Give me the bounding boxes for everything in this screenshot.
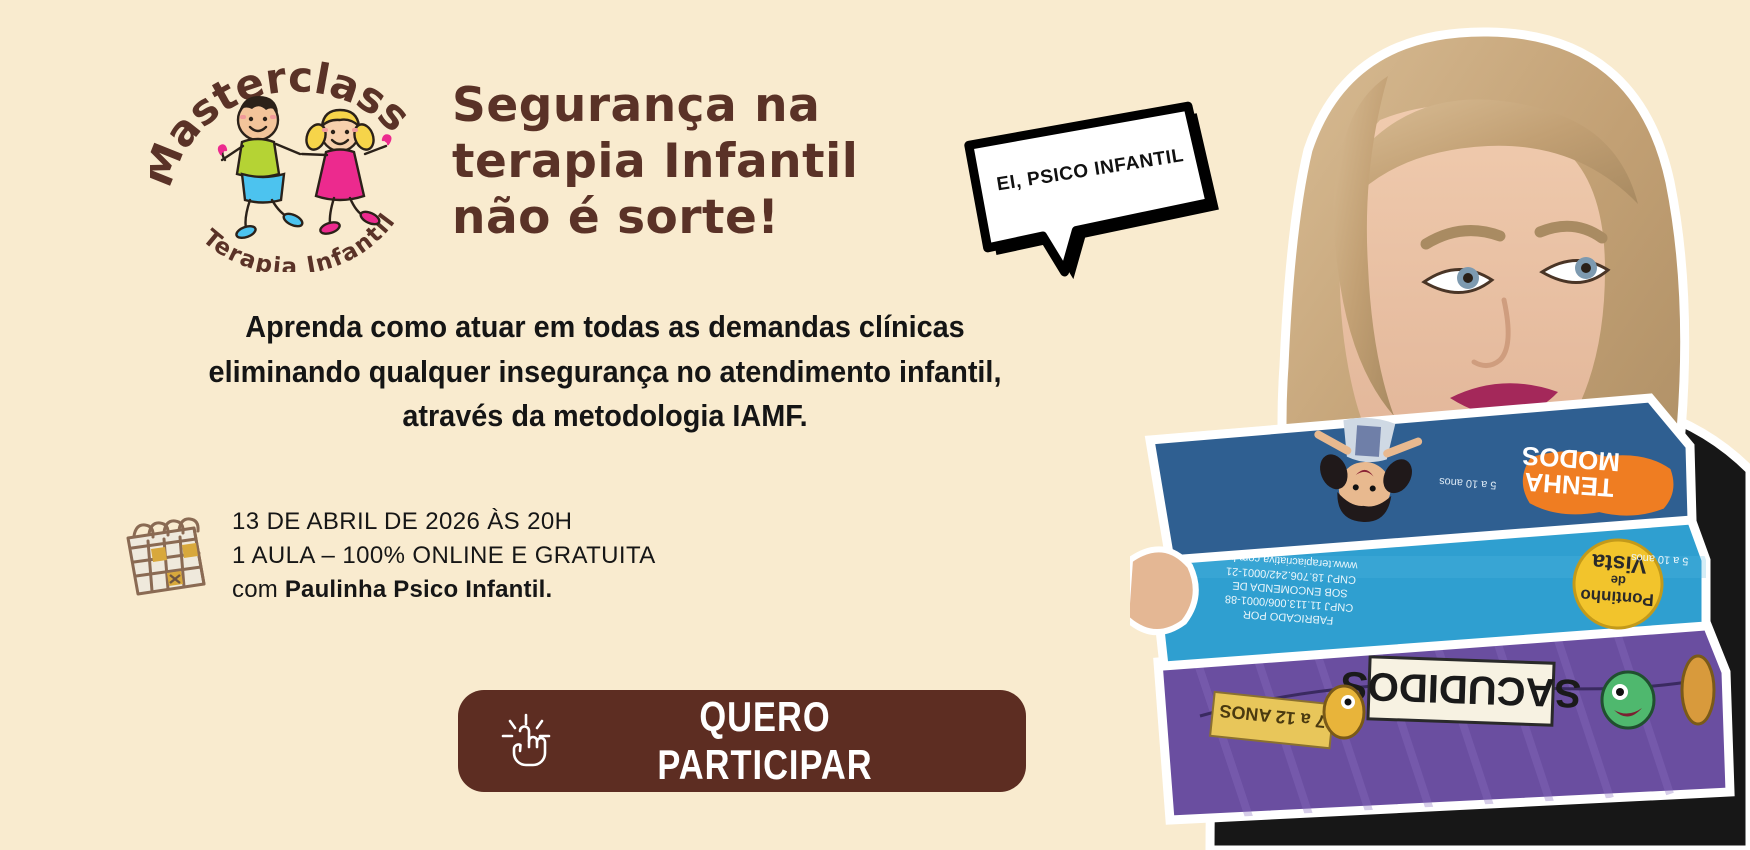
calendar-icon	[118, 512, 210, 600]
subhead-line-3: através da metodologia IAMF.	[107, 394, 1102, 439]
page-title: Segurança na terapia Infantil não é sort…	[452, 78, 872, 246]
presenter-photo-graphic: SACUDIDOS 7 a 12 ANOS	[1130, 0, 1750, 850]
monster-green	[1602, 672, 1654, 728]
logo-graphic: Masterclass Terapia Infantil	[150, 42, 440, 272]
headline-line-3: não é sorte!	[452, 190, 872, 246]
svg-text:SACUDIDOS: SACUDIDOS	[1340, 663, 1581, 715]
masterclass-logo: Masterclass Terapia Infantil	[150, 42, 440, 272]
event-detail-lines: 13 DE ABRIL DE 2026 ÀS 20H 1 AULA – 100%…	[232, 505, 656, 607]
event-host-prefix: com	[232, 576, 285, 603]
presenter-hand	[1130, 549, 1196, 632]
logo-top-arc: Masterclass	[150, 52, 420, 193]
headline-line-2: terapia Infantil	[452, 134, 872, 190]
event-details: 13 DE ABRIL DE 2026 ÀS 20H 1 AULA – 100%…	[118, 505, 656, 607]
click-hand-icon	[496, 711, 556, 771]
cta-label: QUERO PARTICIPAR	[594, 693, 937, 789]
quero-participar-button[interactable]: QUERO PARTICIPAR	[458, 690, 1026, 792]
subhead-line-2: eliminando qualquer insegurança no atend…	[107, 350, 1102, 395]
event-host: com Paulinha Psico Infantil.	[232, 573, 656, 607]
headline-line-1: Segurança na	[452, 78, 872, 134]
event-date: 13 DE ABRIL DE 2026 ÀS 20H	[232, 505, 656, 539]
subhead-line-1: Aprenda como atuar em todas as demandas …	[107, 305, 1102, 350]
event-format: 1 AULA – 100% ONLINE E GRATUITA	[232, 539, 656, 573]
promo-banner: Masterclass Terapia Infantil	[0, 0, 1750, 850]
subheadline: Aprenda como atuar em todas as demandas …	[107, 305, 1102, 439]
monster-giraffe	[1682, 656, 1714, 724]
presenter-photo: SACUDIDOS 7 a 12 ANOS	[1130, 0, 1750, 850]
monster-yellow	[1324, 686, 1364, 738]
event-host-name: Paulinha Psico Infantil.	[285, 576, 553, 603]
